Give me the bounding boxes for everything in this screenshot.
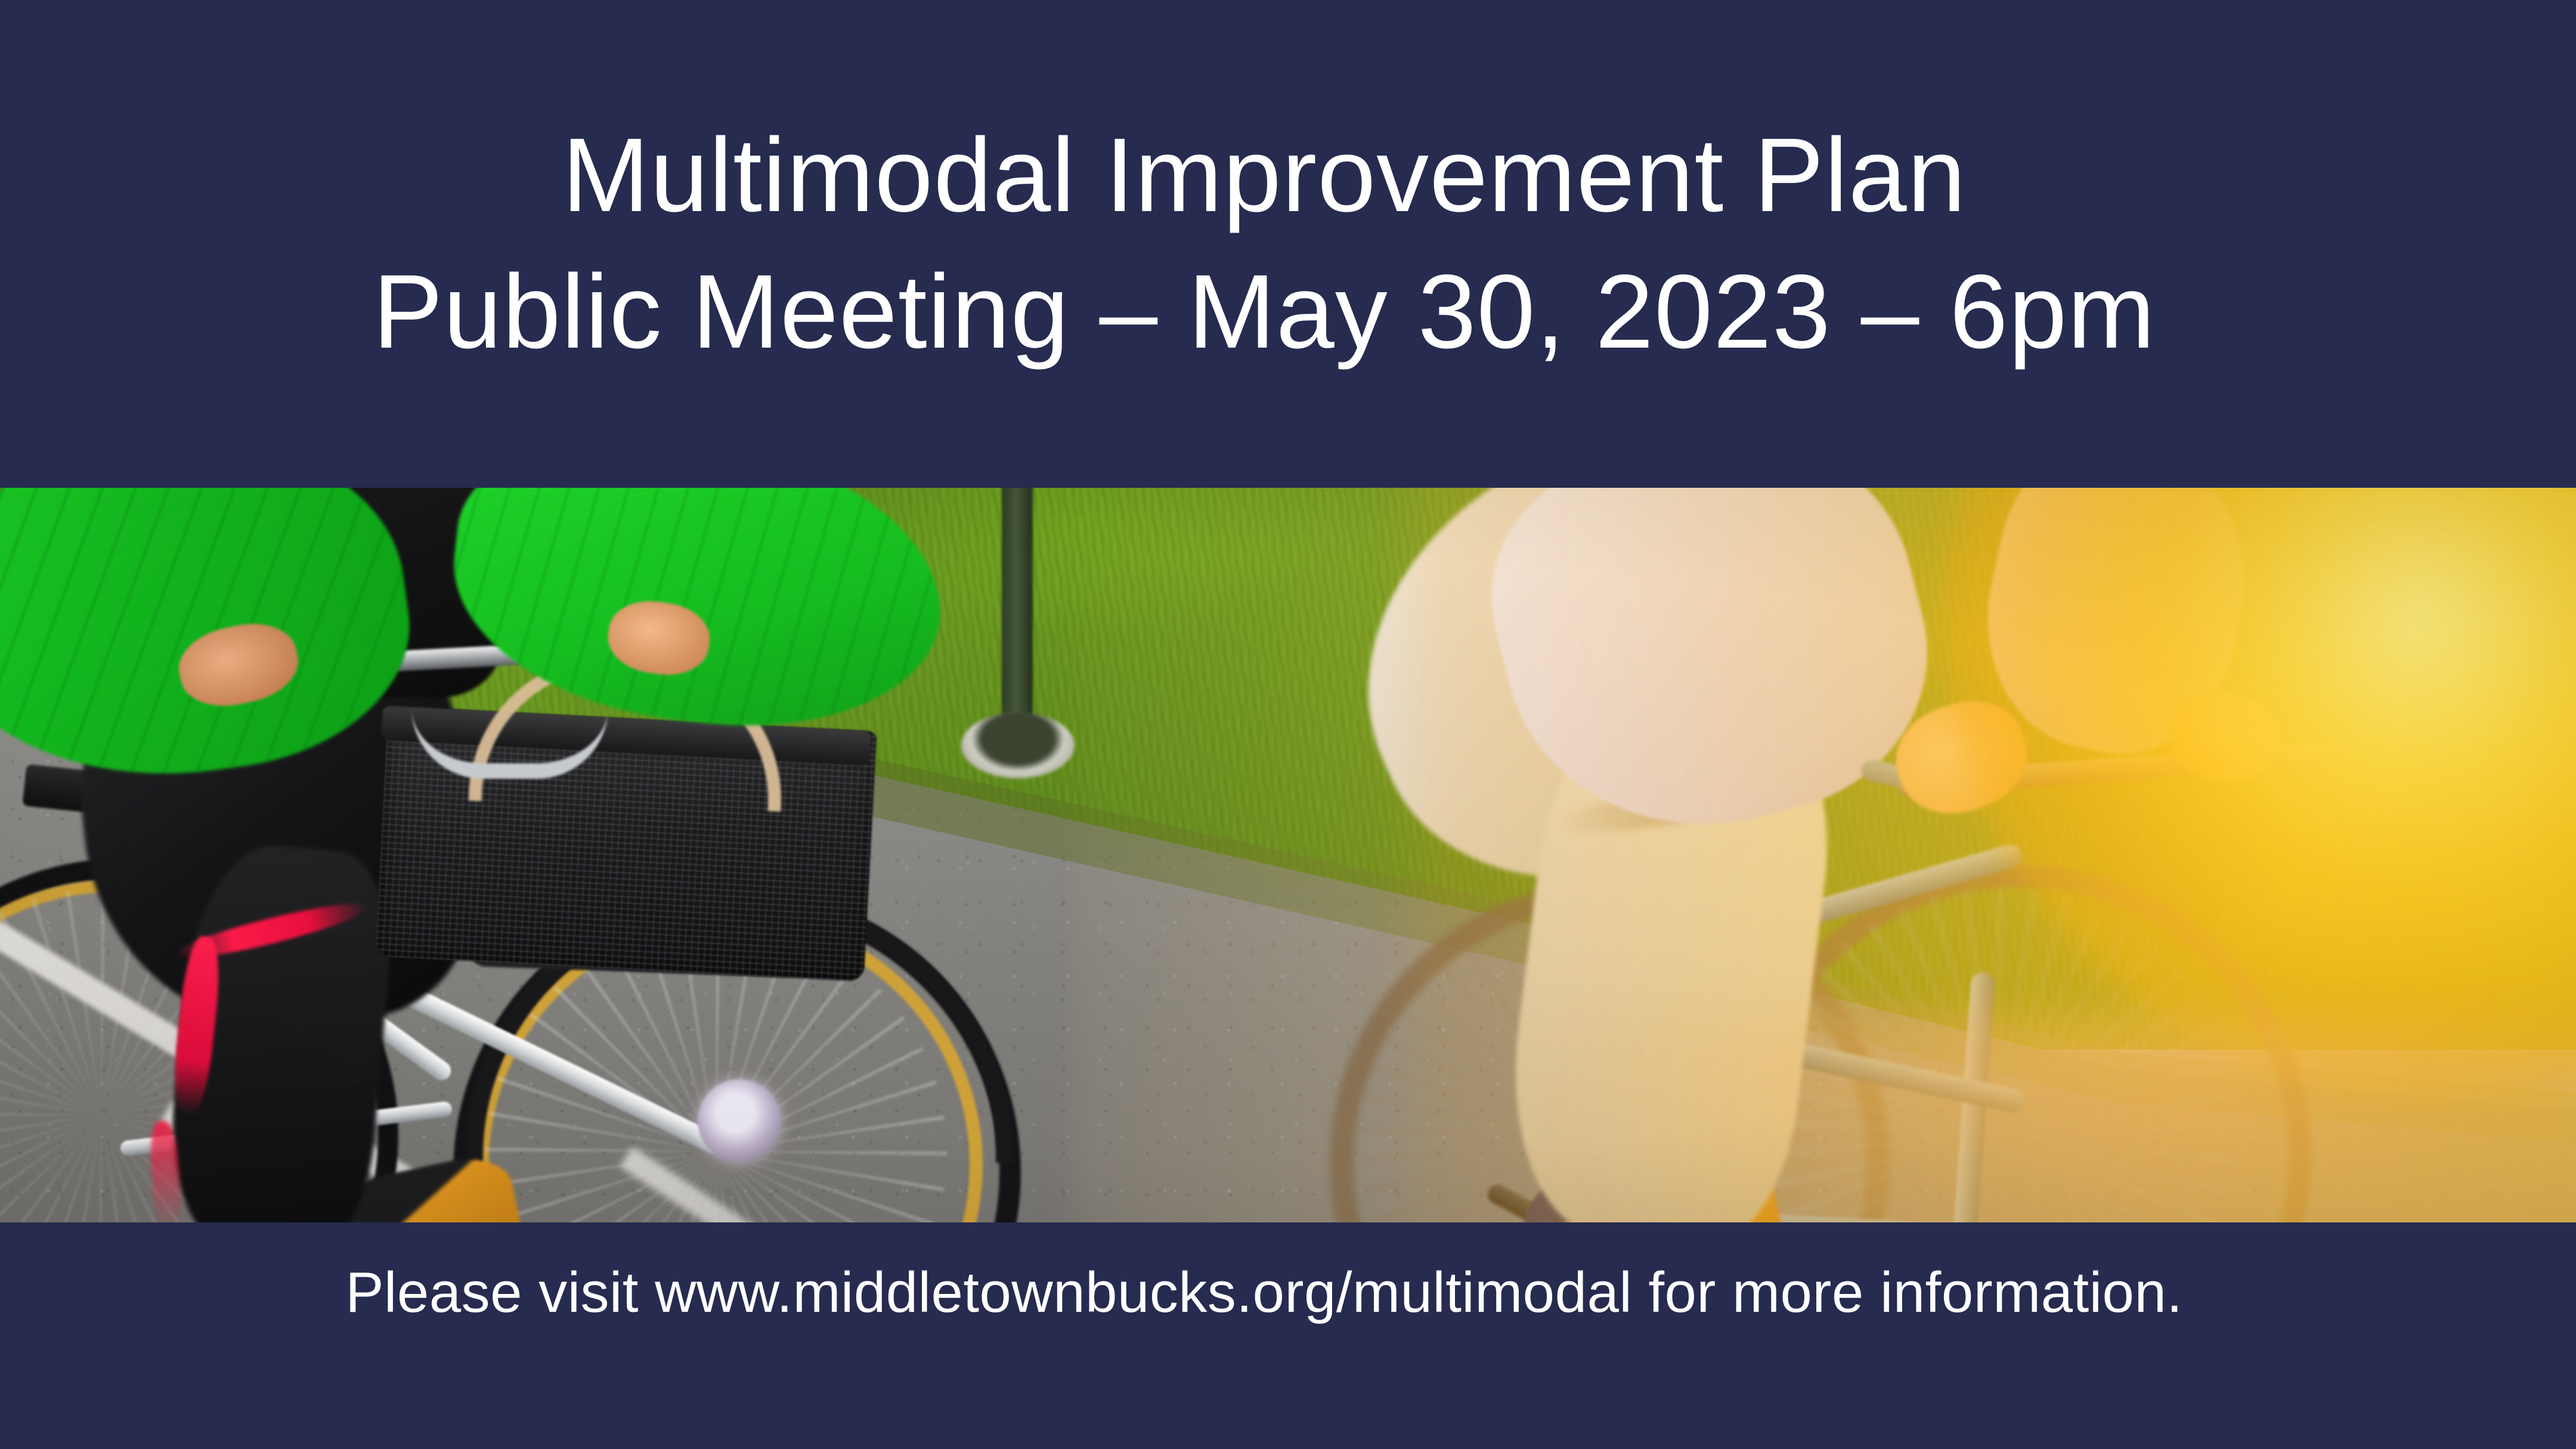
header-banner: Multimodal Improvement Plan Public Meeti… [0, 0, 2576, 488]
footer-info-text: Please visit www.middletownbucks.org/mul… [346, 1258, 2183, 1327]
title-block: Multimodal Improvement Plan Public Meeti… [373, 107, 2156, 380]
footer-banner: Please visit www.middletownbucks.org/mul… [0, 1222, 2576, 1449]
event-flyer: Multimodal Improvement Plan Public Meeti… [0, 0, 2576, 1449]
page-title-line-1: Multimodal Improvement Plan [373, 107, 2156, 244]
lamp-post-base [961, 713, 1075, 778]
cyclists-photo [0, 477, 2576, 1234]
page-title-line-2: Public Meeting – May 30, 2023 – 6pm [373, 244, 2156, 380]
lamp-post [1002, 477, 1033, 733]
sun-flare-spill [1550, 1014, 2576, 1234]
left-bike-headlight [698, 1079, 781, 1163]
